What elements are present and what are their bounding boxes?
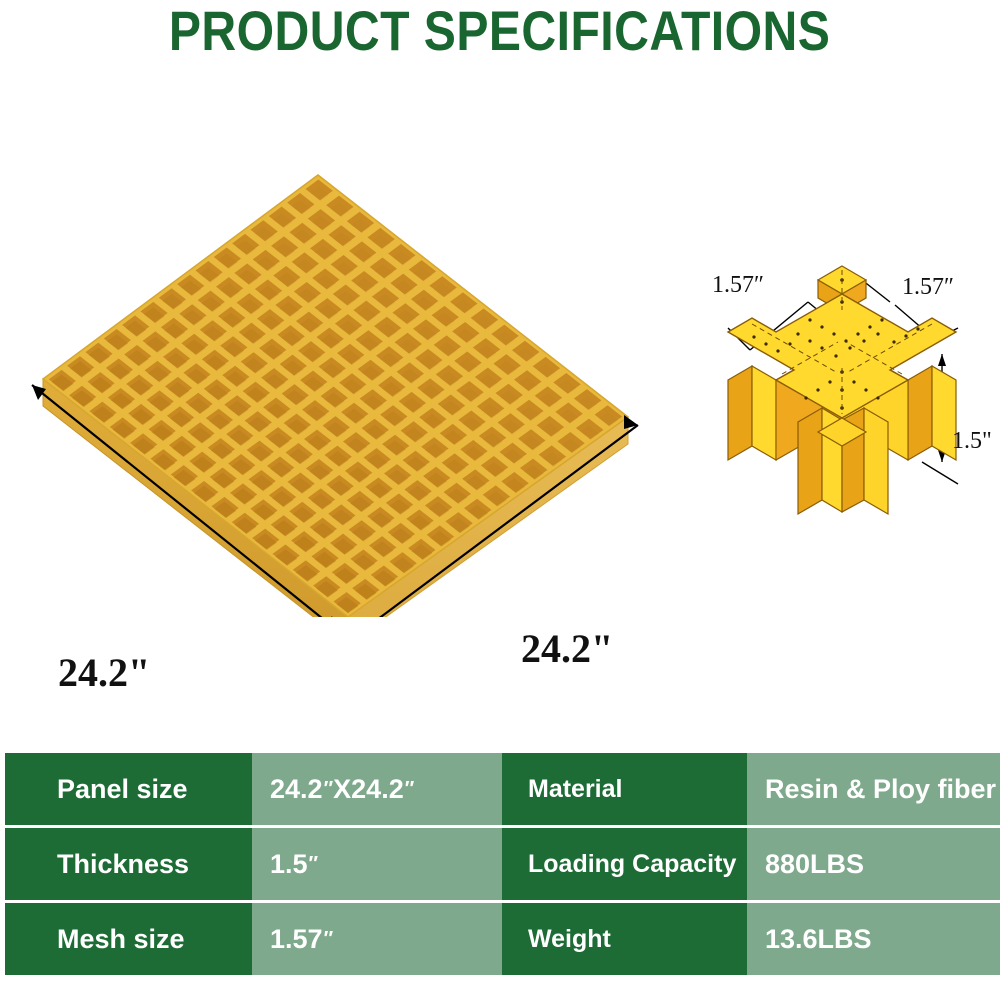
product-illustration: 24.2" 24.2" (0, 62, 1000, 750)
mesh-detail-figure: 1.57″ 1.57″ 1.5" (690, 250, 995, 540)
spec-label-weight: Weight (502, 903, 747, 975)
panel-size-unit2: ″ (405, 779, 415, 799)
thickness-num: 1.5 (270, 849, 308, 880)
thickness-unit: ″ (309, 854, 319, 874)
spec-value-loading-capacity: 880LBS (747, 828, 1000, 900)
grating-panel-svg (18, 157, 658, 617)
spec-value-thickness: 1.5″ (252, 828, 502, 900)
spec-value-weight: 13.6LBS (747, 903, 1000, 975)
panel-size-num: 24.2 (270, 774, 323, 805)
mesh-size-unit: ″ (324, 929, 334, 949)
page-title: PRODUCT SPECIFICATIONS (169, 3, 830, 59)
specification-table: Panel size 24.2″ X24.2″ Material Resin &… (5, 753, 1000, 975)
spec-label-material: Material (502, 753, 747, 825)
grating-panel-figure: 24.2" 24.2" (18, 157, 658, 617)
panel-size-tail: X24.2 (333, 774, 404, 805)
mesh-size-num: 1.57 (270, 924, 323, 955)
panel-dimension-right: 24.2" (521, 625, 613, 672)
mesh-width-right-label: 1.57″ (902, 274, 954, 301)
panel-size-unit: ″ (324, 779, 334, 799)
title-bar: PRODUCT SPECIFICATIONS (0, 0, 1000, 62)
mesh-width-left-label: 1.57″ (712, 272, 764, 299)
mesh-cell-solid (728, 266, 956, 514)
spec-value-panel-size: 24.2″ X24.2″ (252, 753, 502, 825)
spec-label-thickness: Thickness (5, 828, 252, 900)
panel-dimension-left: 24.2" (58, 649, 150, 696)
panel-grid-surface (43, 175, 628, 617)
spec-label-mesh-size: Mesh size (5, 903, 252, 975)
mesh-height-label: 1.5" (952, 428, 992, 455)
spec-value-mesh-size: 1.57″ (252, 903, 502, 975)
spec-label-panel-size: Panel size (5, 753, 252, 825)
spec-value-material: Resin & Ploy fiber (747, 753, 1000, 825)
spec-label-loading-capacity: Loading Capacity (502, 828, 747, 900)
